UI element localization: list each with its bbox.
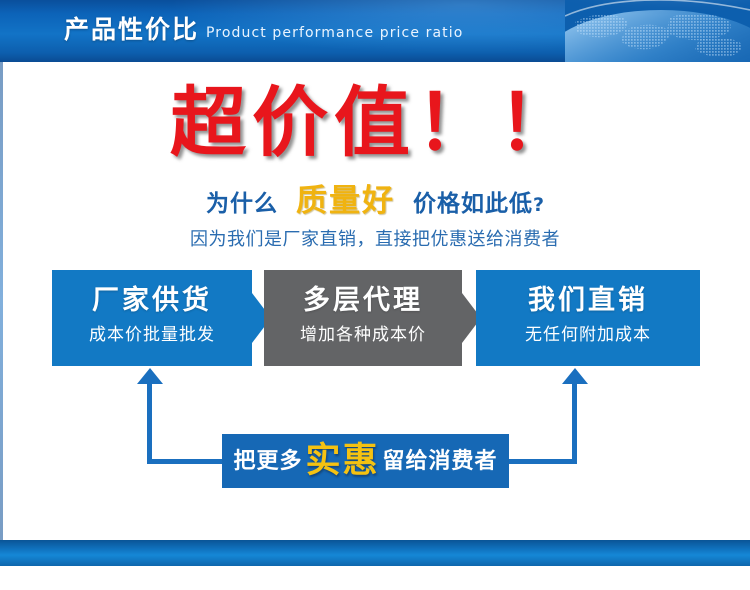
headline-super-value: 超价值！！ xyxy=(0,80,750,168)
flow-box-direct-sales: 我们直销 无任何附加成本 xyxy=(476,270,700,366)
flow-box-factory-supply: 厂家供货 成本价批量批发 xyxy=(52,270,252,366)
promo-highlight: 实惠 xyxy=(305,441,379,480)
connector-line-vertical-right xyxy=(572,382,577,463)
promo-prefix: 把更多 xyxy=(233,448,302,473)
header-banner: 产品性价比 Product performance price ratio xyxy=(0,0,750,62)
promo-banner: 把更多实惠留给消费者 xyxy=(222,434,509,488)
question-low-price: 价格如此低 xyxy=(413,190,533,216)
flow-box-title: 厂家供货 xyxy=(52,283,256,317)
question-line: 为什么质量好价格如此低? xyxy=(0,184,750,224)
flow-box-title: 多层代理 xyxy=(264,283,462,317)
question-good-quality: 质量好 xyxy=(296,183,395,218)
product-price-ratio-poster: 产品性价比 Product performance price ratio 超价… xyxy=(0,0,750,590)
promo-suffix: 留给消费者 xyxy=(383,448,498,473)
supply-chain-flow: 厂家供货 成本价批量批发 多层代理 增加各种成本价 我们直销 无任何附加成本 xyxy=(52,270,700,366)
world-map-globe-icon xyxy=(565,0,750,62)
connector-line-horizontal-left xyxy=(147,459,229,464)
header-title-chinese: 产品性价比 xyxy=(64,14,199,46)
flow-box-subtitle: 增加各种成本价 xyxy=(264,323,462,347)
flow-box-multi-layer-agency: 多层代理 增加各种成本价 xyxy=(264,270,462,366)
flow-box-subtitle: 无任何附加成本 xyxy=(476,323,700,347)
flow-box-subtitle: 成本价批量批发 xyxy=(52,323,252,347)
header-title-english: Product performance price ratio xyxy=(206,24,463,42)
question-why: 为什么 xyxy=(206,190,278,216)
reason-line: 因为我们是厂家直销，直接把优惠送给消费者 xyxy=(0,226,750,252)
question-mark: ? xyxy=(533,194,544,216)
flow-box-title: 我们直销 xyxy=(476,283,704,317)
connector-line-horizontal-right xyxy=(504,459,577,464)
connector-line-vertical-left xyxy=(147,382,152,463)
footer-bar xyxy=(0,540,750,566)
